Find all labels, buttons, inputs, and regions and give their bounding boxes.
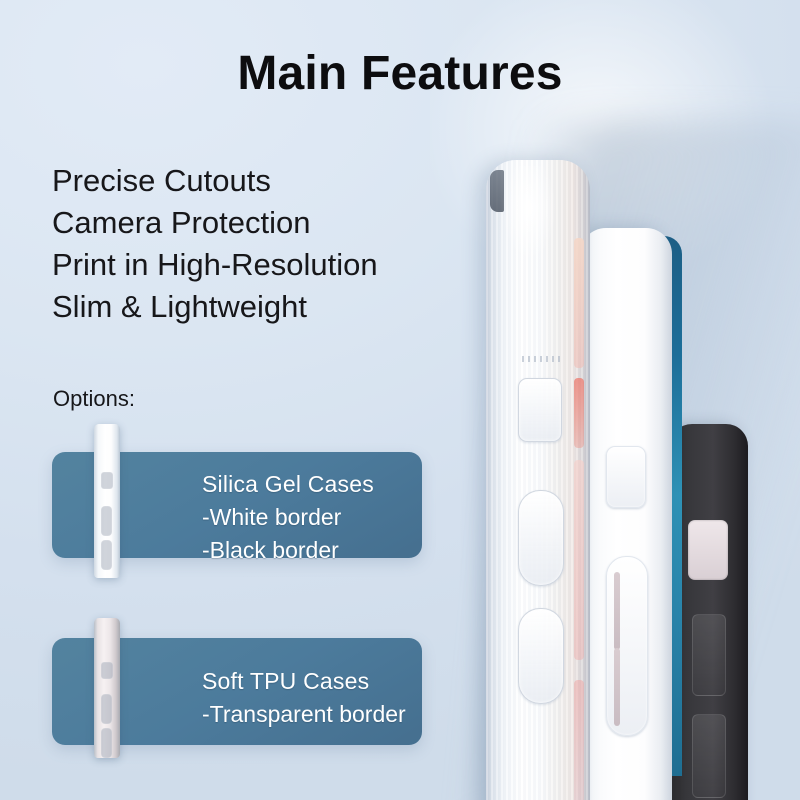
option-bullet: -Transparent border (202, 698, 410, 731)
mute-switch-icon (688, 520, 728, 580)
phone-case-stack-photo (470, 0, 800, 800)
volume-up-button (518, 490, 564, 586)
options-label: Options: (53, 386, 135, 412)
page-title: Main Features (0, 46, 800, 101)
volume-down-button (101, 728, 112, 758)
mute-switch-icon (101, 662, 113, 679)
speaker-grille (522, 356, 560, 362)
volume-up-button (101, 506, 112, 536)
option-heading: Soft TPU Cases (202, 665, 410, 698)
printed-art-edge (574, 238, 584, 368)
printed-art-edge (574, 378, 584, 448)
volume-down-button (518, 608, 564, 704)
clear-phone-case (486, 160, 590, 800)
option-heading: Silica Gel Cases (202, 468, 410, 501)
feature-list: Precise Cutouts Camera Protection Print … (52, 160, 472, 328)
light-glare (498, 166, 560, 286)
mute-switch-icon (101, 472, 113, 489)
option-bullet: -Black border (202, 534, 410, 567)
volume-up-button (692, 614, 726, 696)
feature-item: Precise Cutouts (52, 160, 472, 202)
feature-item: Print in High-Resolution (52, 244, 472, 286)
option-card-text: Soft TPU Cases -Transparent border (202, 665, 410, 731)
product-feature-banner: Main Features Precise Cutouts Camera Pro… (0, 0, 800, 800)
feature-item: Slim & Lightweight (52, 286, 472, 328)
volume-down-button (614, 648, 620, 726)
transparent-case-thumbnail (94, 618, 120, 758)
option-card-text: Silica Gel Cases -White border -Black bo… (202, 468, 410, 567)
volume-down-button (692, 714, 726, 798)
mute-switch-icon (606, 446, 646, 508)
printed-art-edge (574, 460, 584, 660)
printed-art-edge (574, 680, 584, 800)
volume-up-button (614, 572, 620, 650)
volume-up-button (101, 694, 112, 724)
white-case-thumbnail (94, 424, 120, 578)
volume-down-button (101, 540, 112, 570)
volume-rocker (606, 556, 648, 736)
feature-item: Camera Protection (52, 202, 472, 244)
white-phone-case (580, 228, 672, 800)
mute-switch-icon (518, 378, 562, 442)
option-bullet: -White border (202, 501, 410, 534)
